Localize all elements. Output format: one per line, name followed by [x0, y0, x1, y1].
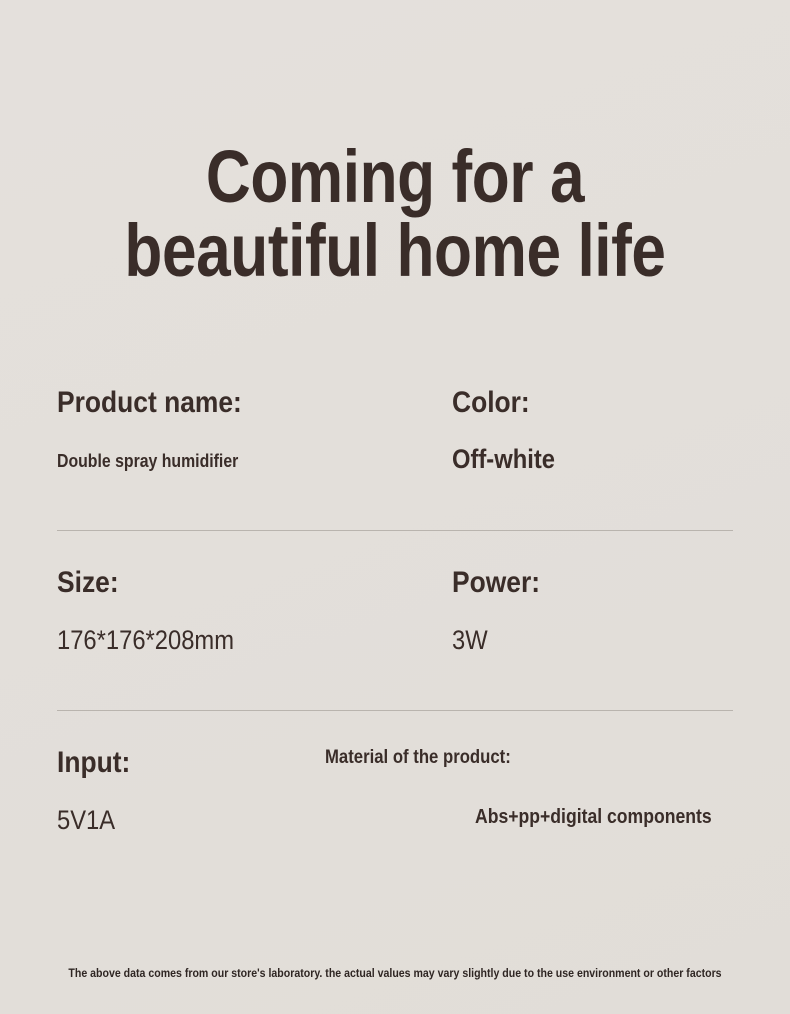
spec-value-input: 5V1A: [57, 805, 130, 835]
spec-value-material: Abs+pp+digital components: [475, 805, 712, 829]
spec-label-power: Power:: [452, 566, 540, 600]
spec-divider-1: [57, 530, 733, 531]
spec-label-product-name: Product name:: [57, 386, 242, 420]
spec-value-size: 176*176*208mm: [57, 625, 234, 655]
spec-value-color: Off-white: [452, 444, 555, 474]
spec-item-input: Input: 5V1A: [57, 746, 140, 835]
page-title-line-2: beautiful home life: [63, 214, 727, 288]
product-spec-page: Coming for a beautiful home life Product…: [0, 0, 790, 1014]
spec-value-product-name: Double spray humidifier: [57, 450, 242, 472]
spec-row-input-material: Input: 5V1A Material of the product: Abs…: [0, 746, 790, 926]
spec-item-material: Material of the product: Abs+pp+digital …: [325, 746, 744, 829]
page-title: Coming for a beautiful home life: [63, 140, 727, 288]
spec-divider-2: [57, 710, 733, 711]
spec-label-material: Material of the product:: [325, 746, 694, 770]
spec-label-size: Size:: [57, 566, 234, 600]
spec-list: Product name: Double spray humidifier Co…: [0, 386, 790, 926]
spec-row-product-name-color: Product name: Double spray humidifier Co…: [0, 386, 790, 566]
spec-value-power: 3W: [452, 625, 540, 655]
spec-label-color: Color:: [452, 386, 555, 420]
spec-row-size-power: Size: 176*176*208mm Power: 3W: [0, 566, 790, 746]
spec-item-product-name: Product name: Double spray humidifier: [57, 386, 267, 472]
page-title-line-1: Coming for a: [63, 140, 727, 214]
footer-disclaimer-text: The above data comes from our store's la…: [68, 966, 721, 982]
spec-item-color: Color: Off-white: [452, 386, 569, 474]
spec-item-power: Power: 3W: [452, 566, 552, 655]
footer-disclaimer: The above data comes from our store's la…: [0, 966, 790, 982]
spec-item-size: Size: 176*176*208mm: [57, 566, 258, 655]
spec-label-input: Input:: [57, 746, 130, 780]
